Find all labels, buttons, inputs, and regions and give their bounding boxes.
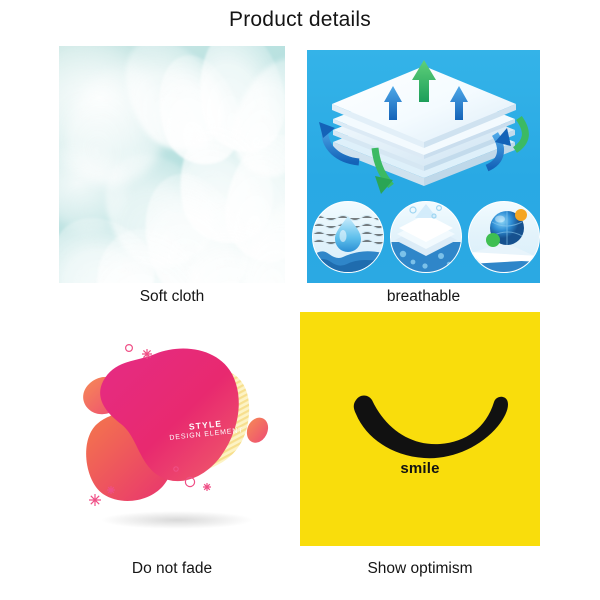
detail-insets-row	[311, 198, 537, 276]
product-details-page: Product details Soft cloth	[0, 0, 600, 600]
fluid-gradient-shapes: STYLE DESIGN ELEMENT	[59, 312, 285, 546]
card-caption-do-not-fade: Do not fade	[59, 560, 285, 578]
smile-graphic: smile	[300, 312, 540, 546]
fabric-layers-svg	[319, 56, 529, 201]
airflow-arrow-down-green-right	[515, 118, 525, 150]
layered-fabric-icon	[390, 201, 462, 273]
page-title: Product details	[0, 8, 600, 32]
card-caption-show-optimism: Show optimism	[300, 560, 540, 578]
smile-curve-icon	[300, 312, 540, 472]
card-caption-soft-cloth: Soft cloth	[59, 288, 285, 306]
fabric-layer-stack	[319, 56, 529, 196]
smile-word-label: smile	[300, 460, 540, 477]
globe-particle-icon	[468, 201, 540, 273]
feathers-photo	[59, 46, 285, 283]
breathable-layers-illustration	[307, 50, 540, 283]
card-caption-breathable: breathable	[307, 288, 540, 306]
tiny-pink-blob	[247, 418, 268, 443]
water-droplet-icon	[312, 201, 384, 273]
